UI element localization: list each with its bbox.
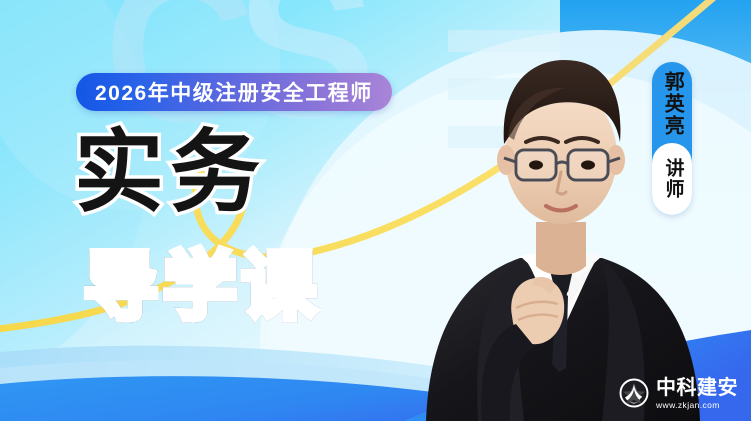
logo-text-block: 中科建安 www.zkjan.com [656,378,738,410]
logo-brand-name: 中科建安 [656,378,738,398]
page-subtitle: 导学课 [84,250,321,324]
brand-logo: 中科建安 www.zkjan.com [619,378,738,410]
course-cover-banner: C S [0,0,751,421]
instructor-role: 讲师 [662,158,683,200]
instructor-name: 郭英亮 [661,71,683,137]
instructor-role-chip: 讲师 [652,143,692,215]
page-title: 实务 [74,128,266,218]
course-category-badge: 2026年中级注册安全工程师 [76,73,392,111]
star-person-icon [619,378,649,408]
badge-label: 2026年中级注册安全工程师 [95,77,373,107]
instructor-name-pill: 郭英亮 讲师 [652,62,692,215]
logo-website-url: www.zkjan.com [656,401,738,410]
